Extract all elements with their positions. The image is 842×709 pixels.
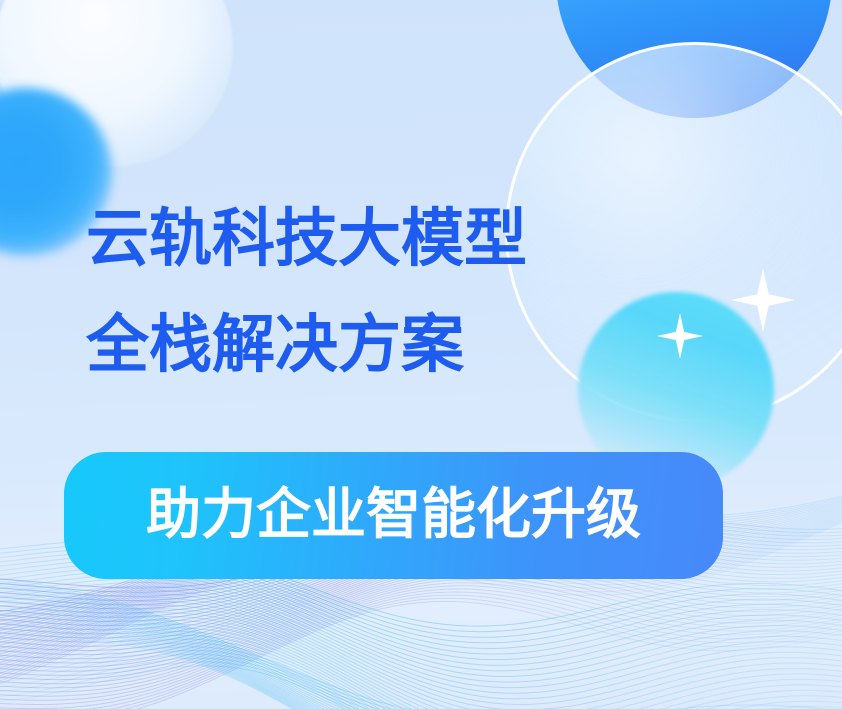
cta-button[interactable]: 助力企业智能化升级	[64, 452, 723, 579]
headline-line-1: 云轨科技大模型	[86, 186, 527, 292]
headline-line-2: 全栈解决方案	[86, 292, 527, 398]
poster-content: 云轨科技大模型 全栈解决方案 助力企业智能化升级	[0, 0, 842, 709]
page-title: 云轨科技大模型 全栈解决方案	[86, 186, 527, 398]
cta-button-label: 助力企业智能化升级	[146, 487, 641, 545]
poster-canvas: 云轨科技大模型 全栈解决方案 助力企业智能化升级	[0, 0, 842, 709]
